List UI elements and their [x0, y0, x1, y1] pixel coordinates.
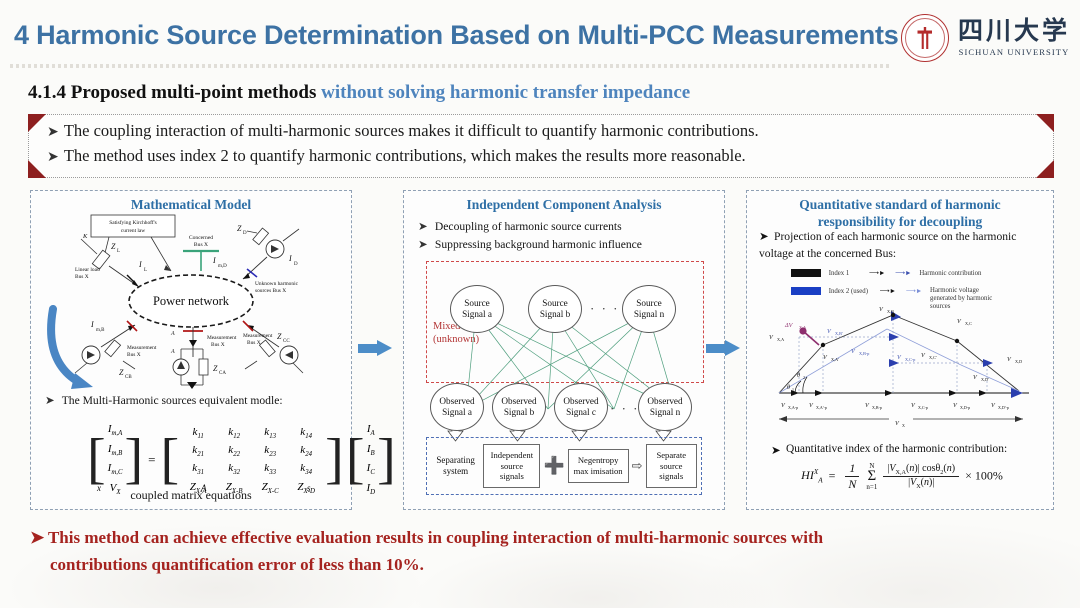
matrix-rhs-column: IA IB IC ID: [366, 423, 375, 498]
svg-text:sources Bus X: sources Bus X: [255, 288, 286, 294]
header-divider: [10, 64, 890, 68]
svg-text:L: L: [117, 249, 120, 254]
quantitative-index-block: ➤ Quantitative index of the harmonic con…: [771, 443, 1033, 492]
svg-text:I: I: [90, 320, 94, 329]
legend-arrow-black-2-icon: ⟶►: [880, 288, 896, 295]
panel3-bullet-2-text: Quantitative index of the harmonic contr…: [786, 443, 1007, 455]
svg-text:V: V: [823, 354, 828, 361]
formula-one-over-n: 1 N: [844, 461, 860, 492]
key-point-1: ➤ The coupling interaction of multi-harm…: [47, 121, 759, 141]
svg-text:2: 2: [803, 375, 805, 380]
subtitle-black: 4.1.4 Proposed multi-point methods: [28, 82, 316, 103]
svg-text:V: V: [991, 402, 996, 409]
separation-chain-box: Separatingsystem Independentsourcesignal…: [426, 437, 702, 495]
matrix-caption: coupled matrix equations: [31, 488, 351, 503]
svg-text:D: D: [243, 231, 247, 236]
svg-text:Z: Z: [119, 368, 124, 377]
svg-text:V: V: [879, 306, 884, 313]
svg-text:Power network: Power network: [153, 294, 230, 308]
svg-text:I: I: [288, 254, 292, 263]
legend-arrow-lightblue-icon: ⟶►: [906, 288, 922, 295]
svg-text:D: D: [294, 262, 298, 267]
svg-text:θ: θ: [787, 384, 790, 391]
source-node-a: SourceSignal a: [450, 285, 504, 333]
key-point-2-text: The method uses index 2 to quantify harm…: [64, 146, 746, 165]
svg-text:Measurement: Measurement: [127, 345, 157, 351]
svg-text:Unknown harmonic: Unknown harmonic: [255, 281, 299, 287]
bullet-arrow-icon: ➤: [30, 524, 44, 551]
svg-text:Measurement: Measurement: [243, 333, 273, 339]
svg-text:Bus X: Bus X: [127, 352, 141, 358]
observed-ellipsis: · · ·: [610, 401, 640, 417]
plus-icon: ➕: [543, 456, 564, 476]
panel1-bullet-text: The Multi-Harmonic sources equivalent mo…: [62, 394, 283, 407]
flow-arrow-2-icon: [706, 340, 740, 356]
svg-text:V: V: [921, 352, 926, 359]
bullet-arrow-icon: ➤: [47, 149, 60, 166]
bullet-arrow-icon: ➤: [759, 229, 774, 246]
panel3-title-line2: responsibility for decoupling: [818, 214, 983, 229]
panel1-bullet: ➤ The Multi-Harmonic sources equivalent …: [45, 393, 283, 407]
corner-ornament-br: [1036, 160, 1054, 178]
svg-text:X,A': X,A': [831, 357, 839, 363]
legend-label-index2: Index 2 (used): [829, 288, 868, 295]
svg-text:V: V: [809, 402, 814, 409]
panel3-bullet-1-text: Projection of each harmonic source on th…: [759, 230, 1016, 260]
conclusion-line-1: ➤ This method can achieve effective eval…: [30, 524, 1050, 551]
svg-text:X,D-p: X,D-p: [960, 405, 970, 411]
conclusion-line-2: contributions quantification error of le…: [50, 551, 1050, 578]
chain-negentropy: Negentropymax imisation: [568, 449, 629, 482]
svg-text:θ: θ: [797, 372, 800, 379]
logo-chinese-name: 四川大学: [958, 19, 1070, 44]
formula-tail: × 100%: [965, 468, 1003, 482]
svg-text:1: 1: [792, 387, 794, 392]
svg-text:current law: current law: [121, 228, 146, 234]
legend-swatch-index1: [791, 269, 821, 277]
svg-text:K: K: [82, 233, 88, 240]
key-point-1-text: The coupling interaction of multi-harmon…: [64, 121, 759, 140]
svg-text:A: A: [170, 331, 175, 337]
formula-lhs: HIXA: [801, 468, 822, 482]
observed-node-n: ObservedSignal n: [638, 383, 692, 431]
svg-text:V: V: [895, 420, 900, 427]
matrix-lhs-0: Im,A: [108, 423, 122, 439]
svg-text:A: A: [170, 349, 175, 355]
equals-sign: =: [148, 452, 155, 468]
matrix-lhs-2: Im,C: [108, 462, 123, 478]
svg-text:Z: Z: [277, 332, 282, 341]
observed-node-a: ObservedSignal a: [430, 383, 484, 431]
svg-text:X,C: X,C: [965, 321, 972, 327]
university-logo: 四川大学 SICHUAN UNIVERSITY: [901, 12, 1070, 64]
matrix-equation: [ Im,A Im,B Im,C VX ] = [ k11k12k13k14 k…: [87, 423, 396, 498]
right-arrow-icon: ⇨: [632, 458, 643, 474]
svg-text:V: V: [781, 402, 786, 409]
svg-text:ΔV: ΔV: [784, 322, 794, 329]
svg-text:Bus X: Bus X: [211, 342, 225, 348]
key-point-2: ➤ The method uses index 2 to quantify ha…: [47, 146, 746, 166]
matrix-rhs-0: IA: [367, 423, 375, 439]
section-subtitle: 4.1.4 Proposed multi-point methods witho…: [28, 82, 690, 104]
source-node-b: SourceSignal b: [528, 285, 582, 333]
legend-desc-1: Harmonic contribution: [919, 270, 981, 277]
svg-text:V: V: [957, 318, 962, 325]
svg-text:Measurement: Measurement: [207, 335, 237, 341]
svg-text:I: I: [212, 256, 216, 265]
source-ellipsis: · · ·: [590, 301, 620, 317]
phasor-diagram: VX,B VX,C VX,A VX,D ΔVX,A VX,B' VX,A' VX…: [761, 297, 1047, 427]
svg-text:X: X: [902, 423, 905, 427]
svg-text:CA: CA: [219, 371, 226, 376]
panel3-bullet-1: ➤ Projection of each harmonic source on …: [759, 229, 1045, 263]
svg-text:X,B-p: X,B-p: [872, 405, 882, 411]
svg-text:L: L: [144, 268, 147, 273]
panel3-title: Quantitative standard of harmonic respon…: [747, 197, 1053, 231]
svg-text:V: V: [827, 328, 832, 335]
legend-arrow-black-icon: ⟶►: [869, 270, 885, 277]
bullet-arrow-icon: ➤: [47, 124, 60, 141]
legend-arrow-blue-icon: ⟶►: [895, 270, 911, 277]
svg-text:X,D': X,D': [981, 377, 989, 383]
svg-text:CC: CC: [283, 339, 290, 344]
svg-text:X,C-p: X,C-p: [918, 405, 928, 411]
matrix-lhs-column: Im,A Im,B Im,C VX: [108, 423, 123, 498]
matrix-rhs-3: ID: [366, 482, 375, 498]
power-network-diagram: Satisfying Kirchhoff's current law Conce…: [31, 209, 351, 389]
matrix-lhs-1: Im,B: [108, 443, 122, 459]
svg-text:X,D: X,D: [1015, 359, 1022, 365]
matrix-rhs-2: IC: [367, 462, 375, 478]
formula-main-fraction: |VX,A(n)| cosθ2(n) |VX(n)|: [883, 463, 959, 490]
svg-text:X,C': X,C': [929, 355, 937, 361]
svg-text:X,D'-p: X,D'-p: [998, 405, 1009, 411]
panel3-bullet-2: ➤ Quantitative index of the harmonic con…: [771, 443, 1033, 455]
slide-header: 4 Harmonic Source Determination Based on…: [0, 0, 1080, 76]
svg-text:V: V: [953, 402, 958, 409]
svg-text:X,C-p: X,C-p: [905, 357, 915, 363]
svg-text:V: V: [1007, 356, 1012, 363]
svg-text:Z: Z: [111, 242, 116, 251]
svg-text:Satisfying Kirchhoff's: Satisfying Kirchhoff's: [109, 219, 156, 226]
svg-text:V: V: [769, 334, 774, 341]
svg-text:Bus X: Bus X: [75, 274, 89, 280]
svg-text:V: V: [865, 402, 870, 409]
source-node-n: SourceSignal n: [622, 285, 676, 333]
legend-row-1: Index 1 ⟶► ⟶► Harmonic contribution: [791, 269, 981, 277]
svg-text:Z: Z: [237, 224, 242, 233]
key-points-box: ➤ The coupling interaction of multi-harm…: [28, 114, 1054, 178]
svg-text:m,D: m,D: [218, 264, 227, 269]
panel-quantitative-standard: Quantitative standard of harmonic respon…: [746, 190, 1054, 510]
svg-text:CB: CB: [125, 375, 132, 380]
svg-text:X,A-p: X,A-p: [788, 405, 798, 411]
svg-text:Bus X: Bus X: [247, 340, 261, 346]
svg-text:V: V: [897, 354, 902, 361]
conclusion-block: ➤ This method can achieve effective eval…: [30, 524, 1050, 578]
corner-ornament-tr: [1036, 114, 1054, 132]
panel-mathematical-model: Mathematical Model Satisfying Kirchhoff'…: [30, 190, 352, 510]
svg-text:X,A'-p: X,A'-p: [816, 405, 827, 411]
svg-text:Concerned: Concerned: [189, 235, 213, 241]
flow-arrow-1-icon: [358, 340, 392, 356]
page-title: 4 Harmonic Source Determination Based on…: [14, 20, 899, 51]
svg-text:Linear load: Linear load: [75, 267, 100, 273]
panel-independent-component-analysis: Independent Component Analysis ➤ Decoupl…: [403, 190, 725, 510]
svg-text:I: I: [138, 260, 142, 269]
svg-text:V: V: [851, 348, 856, 355]
seal-icon: [901, 14, 949, 62]
formula-summation: NΣn=1: [866, 462, 877, 492]
formula-equals: =: [826, 468, 839, 482]
svg-text:X,B-p: X,B-p: [859, 351, 869, 357]
svg-text:Bus X: Bus X: [194, 242, 208, 248]
hi-formula: HIXA = 1 N NΣn=1 |VX,A(n)| cosθ2(n) |VX(…: [771, 461, 1033, 492]
chain-separating-system: Separatingsystem: [431, 455, 480, 478]
matrix-rhs-1: IB: [367, 443, 375, 459]
observed-node-c: ObservedSignal c: [554, 383, 608, 431]
svg-text:V: V: [911, 402, 916, 409]
svg-text:m,B: m,B: [96, 328, 105, 333]
svg-text:V: V: [973, 374, 978, 381]
panel3-title-line1: Quantitative standard of harmonic: [799, 197, 1000, 212]
conclusion-line-1-text: This method can achieve effective evalua…: [48, 528, 823, 547]
bullet-arrow-icon: ➤: [45, 393, 59, 407]
chain-independent-source-signals: Independentsourcesignals: [483, 444, 540, 488]
legend-swatch-index2: [791, 287, 821, 295]
corner-ornament-tl: [28, 114, 46, 132]
svg-text:Z: Z: [213, 364, 218, 373]
legend-label-index1: Index 1: [829, 270, 850, 277]
corner-ornament-bl: [28, 160, 46, 178]
svg-text:X,A: X,A: [777, 337, 784, 343]
svg-text:X,B': X,B': [835, 331, 843, 337]
logo-english-name: SICHUAN UNIVERSITY: [958, 47, 1070, 57]
observed-node-b: ObservedSignal b: [492, 383, 546, 431]
conclusion-line-2-text: contributions quantification error of le…: [50, 555, 424, 574]
subtitle-blue: without solving harmonic transfer impeda…: [321, 82, 690, 103]
chain-separate-source-signals: Separatesourcesignals: [646, 444, 697, 488]
bullet-arrow-icon: ➤: [771, 443, 786, 457]
